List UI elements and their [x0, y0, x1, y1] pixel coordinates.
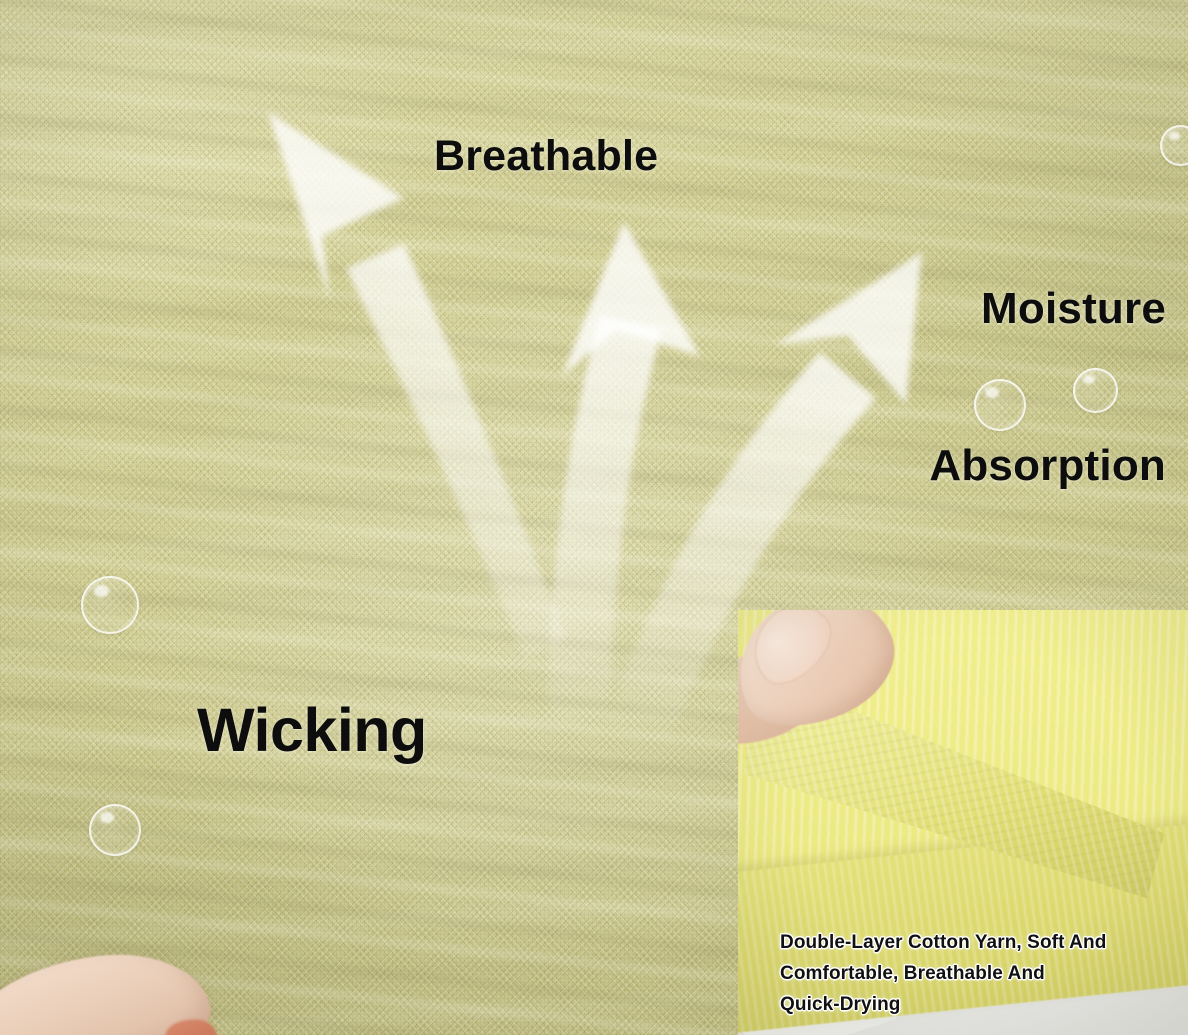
label-moisture-line1: Moisture: [929, 285, 1166, 333]
arrow-left-shape: [268, 112, 566, 660]
caption-line-3: Quick-Drying: [780, 990, 1180, 1021]
droplet-left-lower: [89, 804, 141, 856]
inset-caption: Double-Layer Cotton Yarn, Soft And Comfo…: [780, 928, 1180, 1020]
product-feature-image: Breathable Moisture Absorption Wicking D…: [0, 0, 1188, 1035]
label-wicking: Wicking: [197, 698, 427, 764]
caption-line-2: Comfortable, Breathable And: [780, 959, 1180, 990]
droplet-left-upper: [81, 576, 139, 634]
caption-line-1: Double-Layer Cotton Yarn, Soft And: [780, 928, 1180, 959]
label-moisture-absorption: Moisture Absorption: [929, 190, 1166, 584]
label-moisture-line2: Absorption: [929, 442, 1166, 490]
label-breathable: Breathable: [434, 133, 658, 179]
